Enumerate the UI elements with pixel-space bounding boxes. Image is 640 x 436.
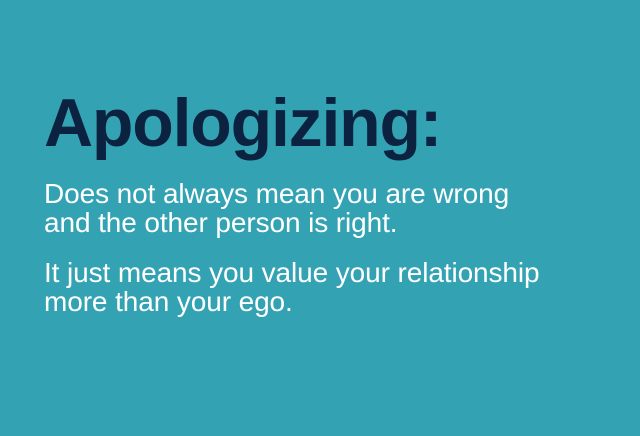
poster-headline: Apologizing: [44,84,620,162]
quote-poster: Apologizing: Does not always mean you ar… [0,0,640,436]
body-paragraph-1: Does not always mean you are wrong and t… [44,179,620,237]
body-paragraph-2: It just means you value your relationshi… [44,258,620,316]
body-line: more than your ego. [44,287,620,316]
body-line: Does not always mean you are wrong [44,179,620,208]
poster-content: Apologizing: Does not always mean you ar… [44,84,620,316]
body-line: It just means you value your relationshi… [44,258,620,287]
body-line: and the other person is right. [44,208,620,237]
poster-body: Does not always mean you are wrong and t… [44,179,620,316]
